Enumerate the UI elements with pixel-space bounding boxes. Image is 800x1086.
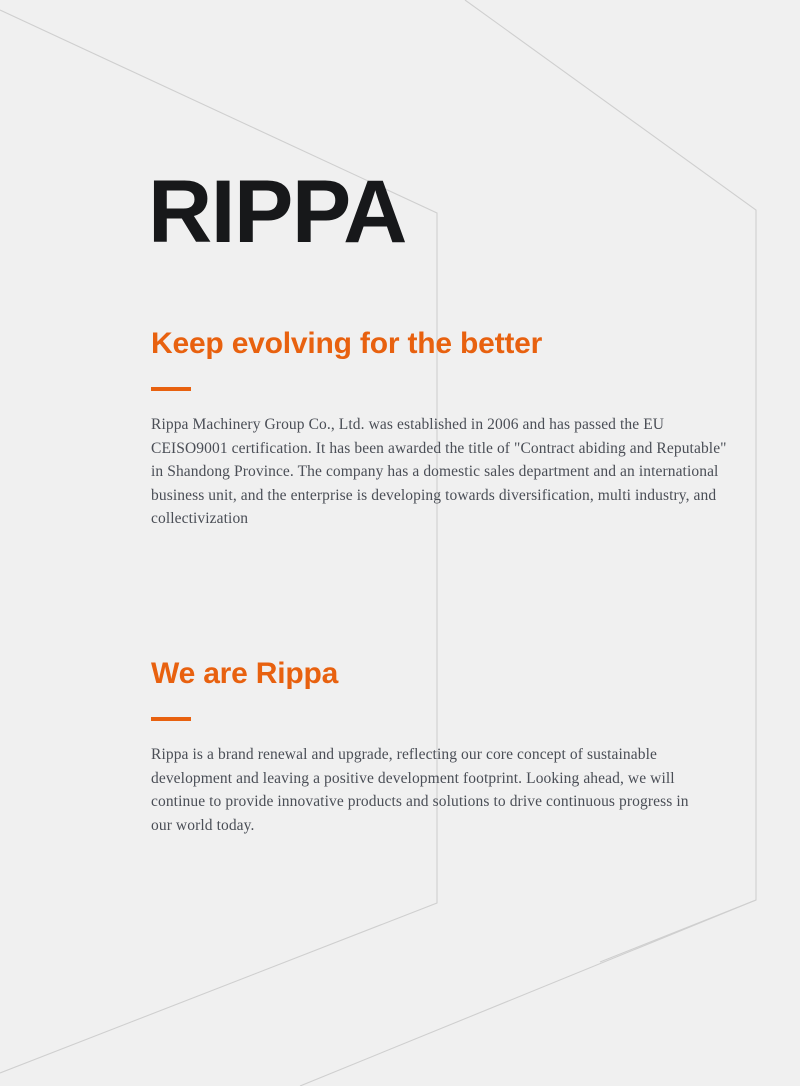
accent-rule xyxy=(151,717,191,721)
section-body-we-are-rippa: Rippa is a brand renewal and upgrade, re… xyxy=(151,743,707,837)
section-body-keep-evolving: Rippa Machinery Group Co., Ltd. was esta… xyxy=(151,413,729,531)
section-we-are-rippa: We are Rippa Rippa is a brand renewal an… xyxy=(151,655,731,837)
accent-rule xyxy=(151,387,191,391)
section-keep-evolving: Keep evolving for the better Rippa Machi… xyxy=(151,325,731,531)
page-content: RIPPA Keep evolving for the better Rippa… xyxy=(0,0,800,1086)
section-heading-we-are-rippa: We are Rippa xyxy=(151,655,731,693)
brand-logo: RIPPA xyxy=(148,167,406,256)
section-heading-keep-evolving: Keep evolving for the better xyxy=(151,325,731,363)
